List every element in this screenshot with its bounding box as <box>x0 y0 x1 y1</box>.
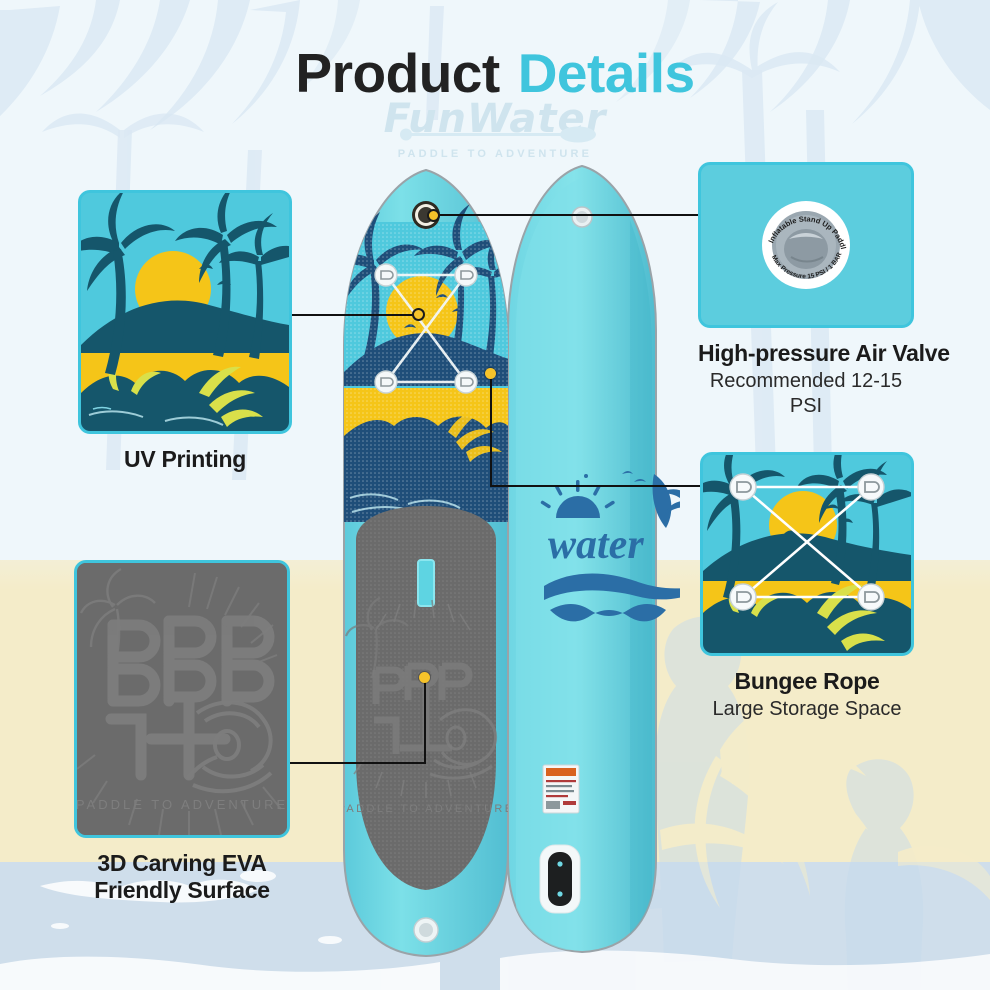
callout-dot-eva-deck <box>419 672 430 683</box>
d-ring <box>375 264 397 286</box>
uv-printing-image-frame <box>78 190 292 434</box>
board-deck-view: PADDLE TO ADVENTURE <box>330 170 532 956</box>
boards-svg: water <box>330 160 680 960</box>
callout-dot-air-valve <box>427 209 440 222</box>
board-uv-print-panel <box>330 204 532 522</box>
leader-line-uv-printing <box>288 314 420 316</box>
bungee-rope-title: Bungee Rope <box>700 668 914 695</box>
page-title-part2: Details <box>518 42 695 104</box>
eva-deck-title-line1: 3D Carving EVA <box>74 850 290 877</box>
d-ring <box>455 371 477 393</box>
page-title: ProductDetails <box>0 46 990 101</box>
d-ring <box>375 371 397 393</box>
paddle-icon <box>390 126 600 144</box>
leader-line-bungee-vertical <box>490 374 492 486</box>
leader-line-eva-horizontal <box>290 762 426 764</box>
eva-deck-image-frame: PADDLE TO ADVENTURE <box>74 560 290 838</box>
board-a-tail-valve <box>414 918 438 942</box>
watermark-tagline: PADDLE TO ADVENTURE <box>0 148 990 160</box>
page-title-part1: Product <box>295 42 499 104</box>
bungee-rope-illustration <box>703 455 911 653</box>
feature-card-uv-printing[interactable]: UV Printing <box>78 190 292 473</box>
air-valve-title: High-pressure Air Valve <box>698 340 914 367</box>
eva-deck-title-line2: Friendly Surface <box>74 877 290 904</box>
svg-text:water: water <box>548 522 644 568</box>
board-fin-box <box>540 845 580 913</box>
leader-line-air-valve <box>432 214 702 216</box>
bungee-rope-subtitle: Large Storage Space <box>700 697 914 722</box>
board-bottom-view: water <box>508 166 680 952</box>
board-spec-label <box>543 765 579 813</box>
bungee-rope-image-frame <box>700 452 914 656</box>
d-ring <box>455 264 477 286</box>
feature-card-eva-deck[interactable]: PADDLE TO ADVENTURE 3D Carving EVA Frien… <box>74 560 290 904</box>
air-valve-subtitle: Recommended 12-15 PSI <box>698 369 914 419</box>
infographic-canvas: FunWater PADDLE TO ADVENTURE ProductDeta… <box>0 0 990 990</box>
air-valve-image-frame: Inflatable Stand Up Paddle Board Max Pre… <box>698 162 914 328</box>
eva-deck-pad-text: PADDLE TO ADVENTURE <box>77 797 287 812</box>
air-valve-illustration: Inflatable Stand Up Paddle Board Max Pre… <box>701 165 911 325</box>
callout-dot-uv-printing <box>412 308 425 321</box>
tropical-sunset-illustration <box>81 193 289 431</box>
feature-card-air-valve[interactable]: Inflatable Stand Up Paddle Board Max Pre… <box>698 162 914 419</box>
uv-printing-title: UV Printing <box>78 446 292 473</box>
leader-line-eva-vertical <box>424 678 426 764</box>
paddle-boards: water <box>330 160 680 960</box>
callout-dot-bungee-rope <box>485 368 496 379</box>
leader-line-bungee-horizontal <box>490 485 702 487</box>
deck-pad-text: PADDLE TO ADVENTURE <box>337 803 514 815</box>
board-b-valve <box>572 207 592 227</box>
eva-deck-illustration: PADDLE TO ADVENTURE <box>77 563 287 835</box>
feature-card-bungee-rope[interactable]: Bungee Rope Large Storage Space <box>700 452 914 722</box>
